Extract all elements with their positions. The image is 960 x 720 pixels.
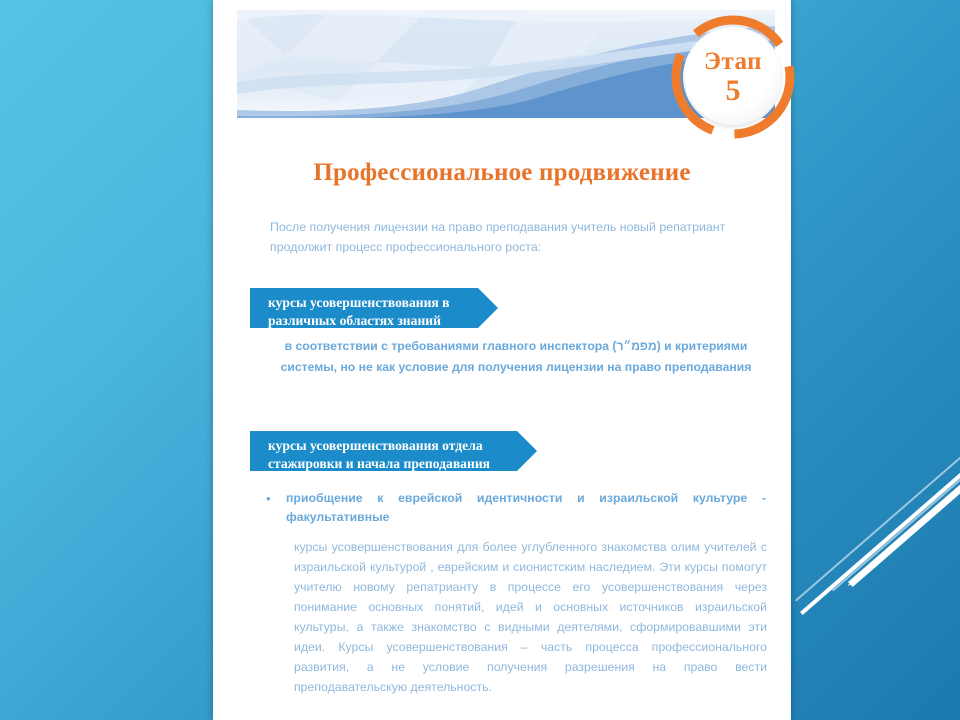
diagonal-streak-thick-9 — [850, 476, 960, 587]
intro-paragraph: После получения лицензии на право препод… — [270, 217, 762, 257]
slide-canvas: Этап 5 Профессиональное продвижение Посл… — [0, 0, 960, 720]
diagonal-streak-thick-3 — [848, 454, 960, 582]
diagonal-streak-thin-1 — [795, 436, 960, 601]
page-title: Профессиональное продвижение — [213, 159, 791, 187]
arrow-banner-courses-various-fields: курсы усовершенствования в различных обл… — [250, 288, 478, 328]
criteria-paragraph: в соответствии с требованиями главного и… — [268, 336, 764, 378]
diagonal-streak-thick-1 — [800, 461, 960, 615]
diagonal-streak-thick-2 — [848, 454, 960, 585]
arrow-banner-internship-department: курсы усовершенствования отдела стажиров… — [250, 431, 517, 471]
bullet-list-item: • приобщение к еврейской идентичности и … — [266, 489, 766, 527]
document-panel: Этап 5 Профессиональное продвижение Посл… — [213, 0, 791, 720]
bullet-marker-icon: • — [266, 489, 286, 509]
bullet-item-label: приобщение к еврейской идентичности и из… — [286, 489, 766, 527]
closing-paragraph: курсы усовершенствования для более углуб… — [294, 537, 767, 697]
badge-word-label: Этап — [704, 49, 762, 74]
diagonal-streak-thin-2 — [832, 449, 960, 591]
badge-number-label: 5 — [726, 76, 741, 106]
badge-label-group: Этап 5 — [685, 29, 781, 125]
diagonal-streak-thick-4 — [848, 460, 960, 585]
stage-badge: Этап 5 — [668, 12, 798, 142]
diagonal-streak-thick-5 — [849, 456, 960, 582]
